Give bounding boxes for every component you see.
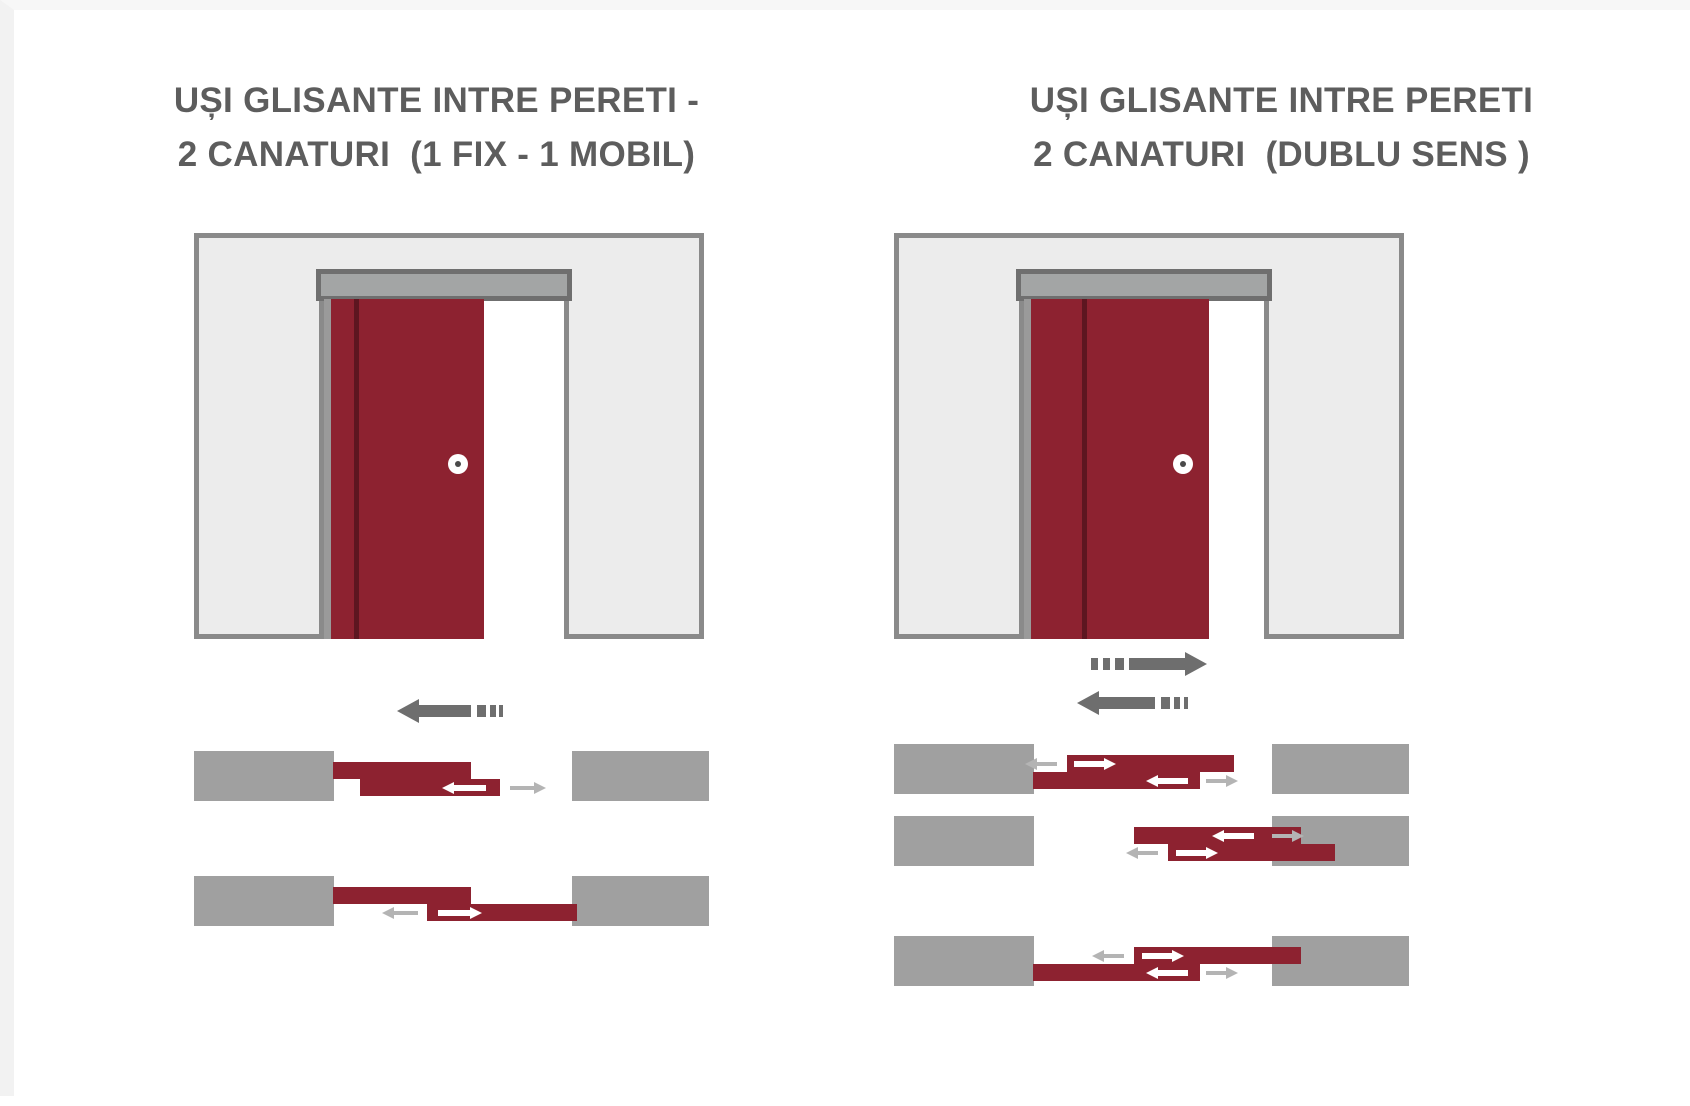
panel-double-sliding-door: UȘI GLISANTE INTRE PERETI 2 CANATURI (DU… bbox=[859, 10, 1690, 1106]
plan-arrow-gray-left bbox=[1092, 949, 1124, 963]
panel-left-title: UȘI GLISANTE INTRE PERETI - 2 CANATURI (… bbox=[14, 74, 859, 183]
plan-right-both-left bbox=[894, 738, 1414, 808]
track-rail bbox=[316, 269, 572, 301]
plan-arrow-white-right bbox=[1074, 757, 1116, 771]
elevation-left bbox=[194, 233, 704, 639]
plan-arrow-white-right bbox=[436, 906, 482, 920]
plan-wall-left bbox=[894, 816, 1034, 866]
door-leaf-pair bbox=[1024, 299, 1209, 639]
motion-arrow-left bbox=[1077, 690, 1193, 716]
plan-left-closed bbox=[194, 745, 714, 815]
plan-right-closed bbox=[894, 930, 1414, 1000]
plan-wall-right bbox=[572, 751, 709, 801]
track-rail bbox=[1016, 269, 1272, 301]
plan-arrow-gray-right bbox=[1272, 829, 1304, 843]
plan-right-both-right bbox=[894, 810, 1414, 880]
plan-arrow-gray-right bbox=[1206, 966, 1238, 980]
door-leaf-mobile bbox=[324, 299, 484, 639]
plan-wall-right bbox=[572, 876, 709, 926]
door-handle-icon bbox=[448, 454, 468, 474]
plan-arrow-white-right bbox=[1142, 949, 1184, 963]
plan-arrow-gray-left bbox=[1126, 846, 1158, 860]
motion-arrow-right bbox=[1091, 651, 1207, 677]
title-line-1: UȘI GLISANTE INTRE PERETI - bbox=[14, 74, 859, 128]
plan-leaf-fixed bbox=[333, 762, 471, 779]
plan-arrow-white-right bbox=[1176, 846, 1218, 860]
plan-arrow-gray-left bbox=[382, 906, 418, 920]
title-line-2: 2 CANATURI (DUBLU SENS ) bbox=[859, 128, 1690, 182]
door-seam-line bbox=[1082, 299, 1087, 639]
door-edge-strip bbox=[1024, 299, 1031, 639]
plan-wall-left bbox=[194, 876, 334, 926]
plan-wall-right bbox=[1272, 744, 1409, 794]
plan-arrow-white-left bbox=[1146, 966, 1188, 980]
plan-arrow-white-left bbox=[1146, 774, 1188, 788]
panel-single-sliding-door: UȘI GLISANTE INTRE PERETI - 2 CANATURI (… bbox=[14, 10, 859, 1106]
door-edge-strip bbox=[324, 299, 331, 639]
plan-arrow-gray-right bbox=[510, 781, 546, 795]
plan-wall-left bbox=[894, 936, 1034, 986]
title-line-1: UȘI GLISANTE INTRE PERETI bbox=[859, 74, 1690, 128]
plan-left-open bbox=[194, 870, 714, 940]
plan-arrow-white-left bbox=[1212, 829, 1254, 843]
title-line-2: 2 CANATURI (1 FIX - 1 MOBIL) bbox=[14, 128, 859, 182]
diagram-canvas: UȘI GLISANTE INTRE PERETI - 2 CANATURI (… bbox=[0, 0, 1690, 1096]
plan-wall-left bbox=[894, 744, 1034, 794]
door-seam-line bbox=[354, 299, 359, 639]
plan-arrow-gray-right bbox=[1206, 774, 1238, 788]
plan-arrow-white-left bbox=[442, 781, 488, 795]
door-handle-icon bbox=[1173, 454, 1193, 474]
elevation-right bbox=[894, 233, 1404, 639]
panel-right-title: UȘI GLISANTE INTRE PERETI 2 CANATURI (DU… bbox=[859, 74, 1690, 183]
plan-wall-left bbox=[194, 751, 334, 801]
plan-leaf-fixed bbox=[333, 887, 471, 904]
motion-arrow-left bbox=[397, 698, 507, 724]
plan-arrow-gray-left bbox=[1025, 757, 1057, 771]
